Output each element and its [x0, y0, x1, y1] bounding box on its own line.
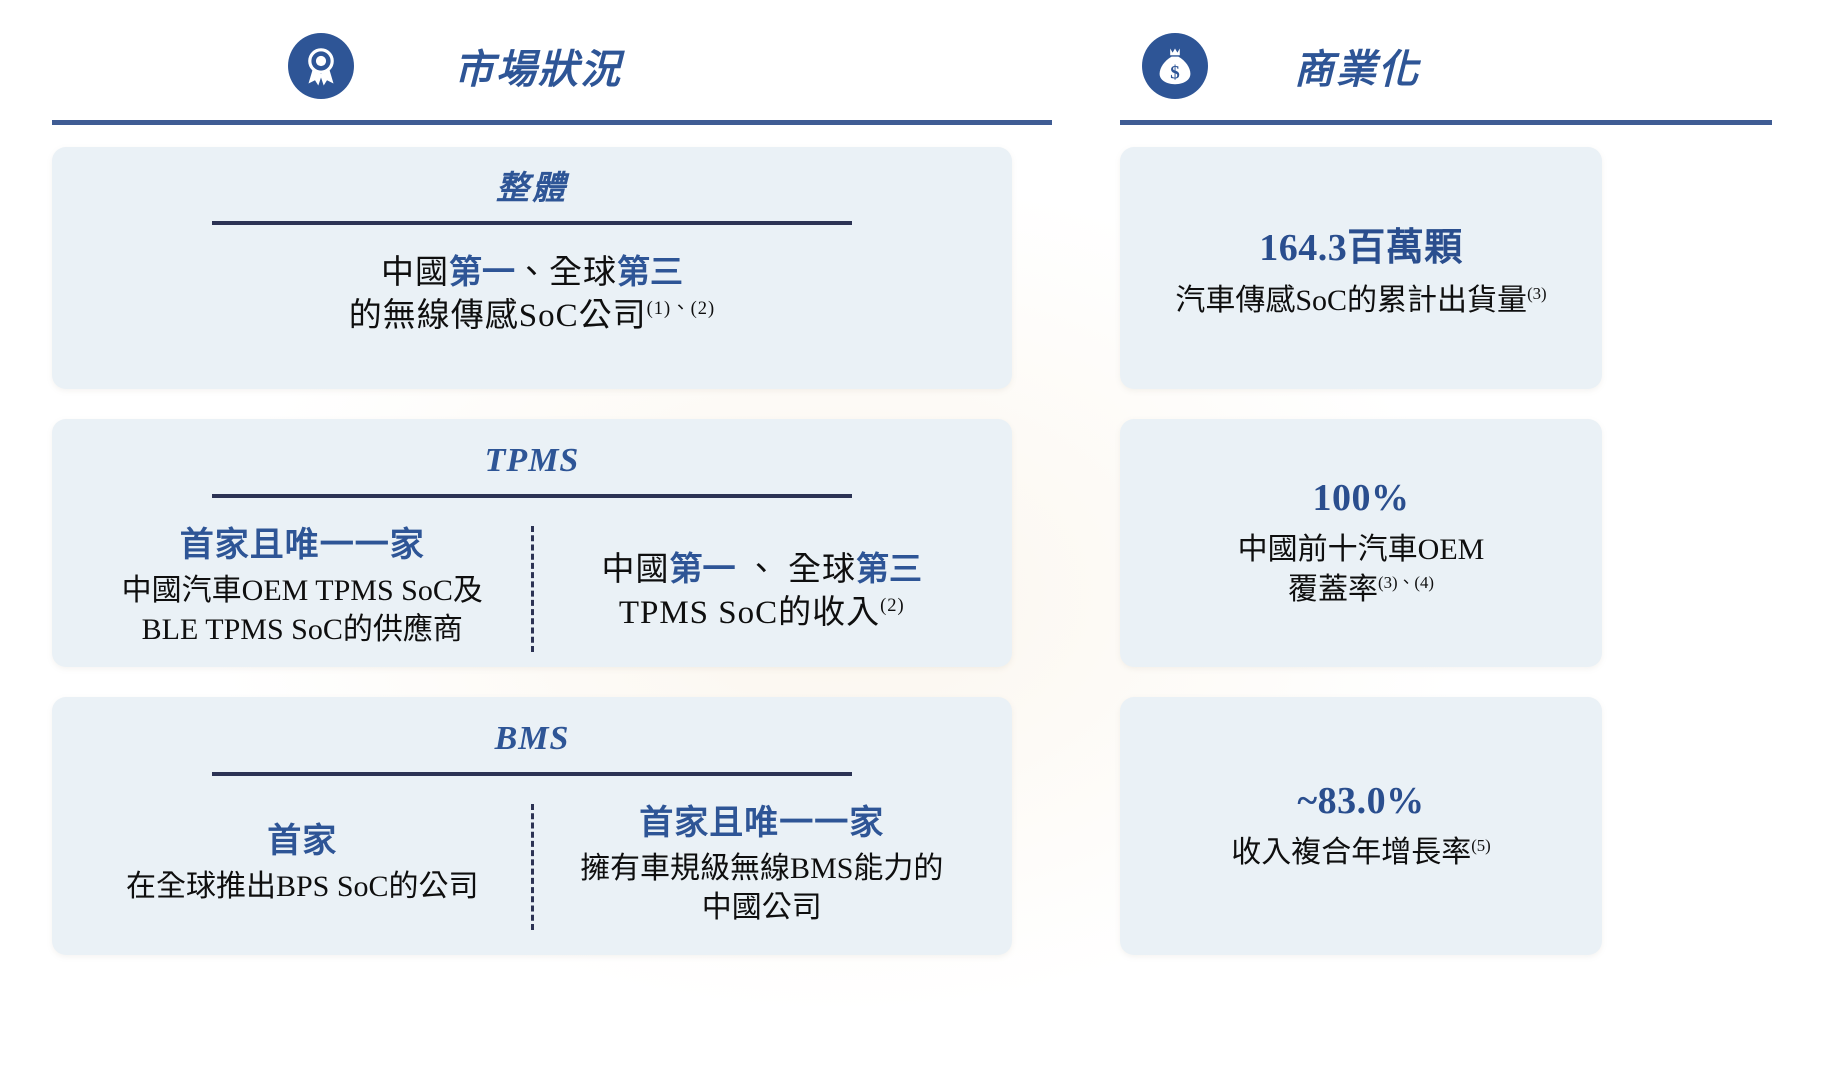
award-ribbon-icon: [288, 33, 354, 99]
money-bag-icon: $: [1142, 33, 1208, 99]
stat-shipments-label: 汽車傳感SoC的累計出貨量(3): [1175, 281, 1546, 321]
card-tpms-pane-right-line-1: 中國第一 、 全球第三: [554, 548, 971, 592]
card-bms-pane-left-highlight: 首家: [94, 820, 511, 863]
card-shipments[interactable]: 164.3百萬顆 汽車傳感SoC的累計出貨量(3): [1120, 147, 1602, 389]
left-cards: 整體 中國第一、全球第三 的無線傳感SoC公司(1)、(2) TPMS: [52, 147, 1082, 955]
right-column-title: 商業化: [1294, 37, 1420, 95]
left-header-rule: [52, 120, 1052, 125]
card-tpms-pane-left-line-1: 中國汽車OEM TPMS SoC及: [94, 571, 511, 610]
card-bms-pane-right: 首家且唯一一家 擁有車規級無線BMS能力的 中國公司: [540, 802, 985, 927]
card-overall-title: 整體: [80, 165, 984, 207]
svg-text:$: $: [1170, 63, 1180, 84]
card-tpms-pane-left: 首家且唯一一家 中國汽車OEM TPMS SoC及 BLE TPMS SoC的供…: [80, 524, 525, 649]
card-overall[interactable]: 整體 中國第一、全球第三 的無線傳感SoC公司(1)、(2): [52, 147, 1012, 389]
left-column-header: 市場狀況: [52, 18, 1082, 114]
card-oem-coverage[interactable]: 100% 中國前十汽車OEM覆蓋率(3)、(4): [1120, 419, 1602, 667]
column-market-status: 市場狀況 整體 中國第一、全球第三 的無線傳感SoC公司(1)、(2): [52, 18, 1082, 1040]
stat-revenue-cagr: ~83.0% 收入複合年增長率(5): [1231, 779, 1491, 873]
stat-oem-coverage-value: 100%: [1238, 476, 1485, 520]
card-tpms-divider: [531, 526, 534, 652]
card-bms-pane-right-line-1: 擁有車規級無線BMS能力的: [554, 849, 971, 888]
card-overall-pane: 中國第一、全球第三 的無線傳感SoC公司(1)、(2): [80, 251, 984, 338]
card-overall-line-2: 的無線傳感SoC公司(1)、(2): [94, 295, 970, 338]
slide-canvas: 市場狀況 整體 中國第一、全球第三 的無線傳感SoC公司(1)、(2): [0, 0, 1824, 1080]
card-bms-pane-right-line-2: 中國公司: [554, 888, 971, 927]
stat-oem-coverage: 100% 中國前十汽車OEM覆蓋率(3)、(4): [1238, 476, 1485, 609]
right-cards: 164.3百萬顆 汽車傳感SoC的累計出貨量(3) 100% 中國前十汽車OEM…: [1120, 147, 1772, 955]
card-tpms-pane-left-line-2: BLE TPMS SoC的供應商: [94, 610, 511, 649]
card-tpms-title: TPMS: [80, 437, 984, 480]
card-bms-divider: [531, 804, 534, 930]
card-tpms-rule: [212, 494, 852, 498]
stat-revenue-cagr-label: 收入複合年增長率(5): [1231, 833, 1491, 873]
stat-revenue-cagr-value: ~83.0%: [1231, 779, 1491, 823]
card-bms-pane-left-line-1: 在全球推出BPS SoC的公司: [94, 867, 511, 906]
card-tpms-body: 首家且唯一一家 中國汽車OEM TPMS SoC及 BLE TPMS SoC的供…: [80, 524, 984, 652]
stat-shipments: 164.3百萬顆 汽車傳感SoC的累計出貨量(3): [1175, 216, 1546, 321]
columns-container: 市場狀況 整體 中國第一、全球第三 的無線傳感SoC公司(1)、(2): [0, 0, 1824, 1080]
card-tpms-pane-right: 中國第一 、 全球第三 TPMS SoC的收入(2): [540, 524, 985, 635]
card-overall-rule: [212, 221, 852, 225]
card-tpms[interactable]: TPMS 首家且唯一一家 中國汽車OEM TPMS SoC及 BLE TPMS …: [52, 419, 1012, 667]
card-overall-body: 中國第一、全球第三 的無線傳感SoC公司(1)、(2): [80, 251, 984, 338]
card-bms[interactable]: BMS 首家 在全球推出BPS SoC的公司 首家且唯一一家 擁有車規級無線BM…: [52, 697, 1012, 955]
right-header-rule: [1120, 120, 1772, 125]
column-commercialization: $ 商業化 164.3百萬顆 汽車傳感SoC的累計出貨量(3) 100% 中國前: [1120, 18, 1772, 1040]
card-revenue-cagr[interactable]: ~83.0% 收入複合年增長率(5): [1120, 697, 1602, 955]
card-bms-title: BMS: [80, 715, 984, 758]
left-column-title: 市場狀況: [454, 37, 622, 95]
card-bms-pane-right-highlight: 首家且唯一一家: [554, 802, 971, 845]
card-bms-rule: [212, 772, 852, 776]
card-tpms-pane-left-highlight: 首家且唯一一家: [94, 524, 511, 567]
stat-shipments-value: 164.3百萬顆: [1175, 216, 1546, 271]
right-column-header: $ 商業化: [1120, 18, 1772, 114]
card-bms-body: 首家 在全球推出BPS SoC的公司 首家且唯一一家 擁有車規級無線BMS能力的…: [80, 802, 984, 930]
card-bms-pane-left: 首家 在全球推出BPS SoC的公司: [80, 802, 525, 906]
card-overall-line-1: 中國第一、全球第三: [94, 251, 970, 295]
card-tpms-pane-right-line-2: TPMS SoC的收入(2): [554, 592, 971, 635]
stat-oem-coverage-label: 中國前十汽車OEM覆蓋率(3)、(4): [1238, 530, 1485, 609]
